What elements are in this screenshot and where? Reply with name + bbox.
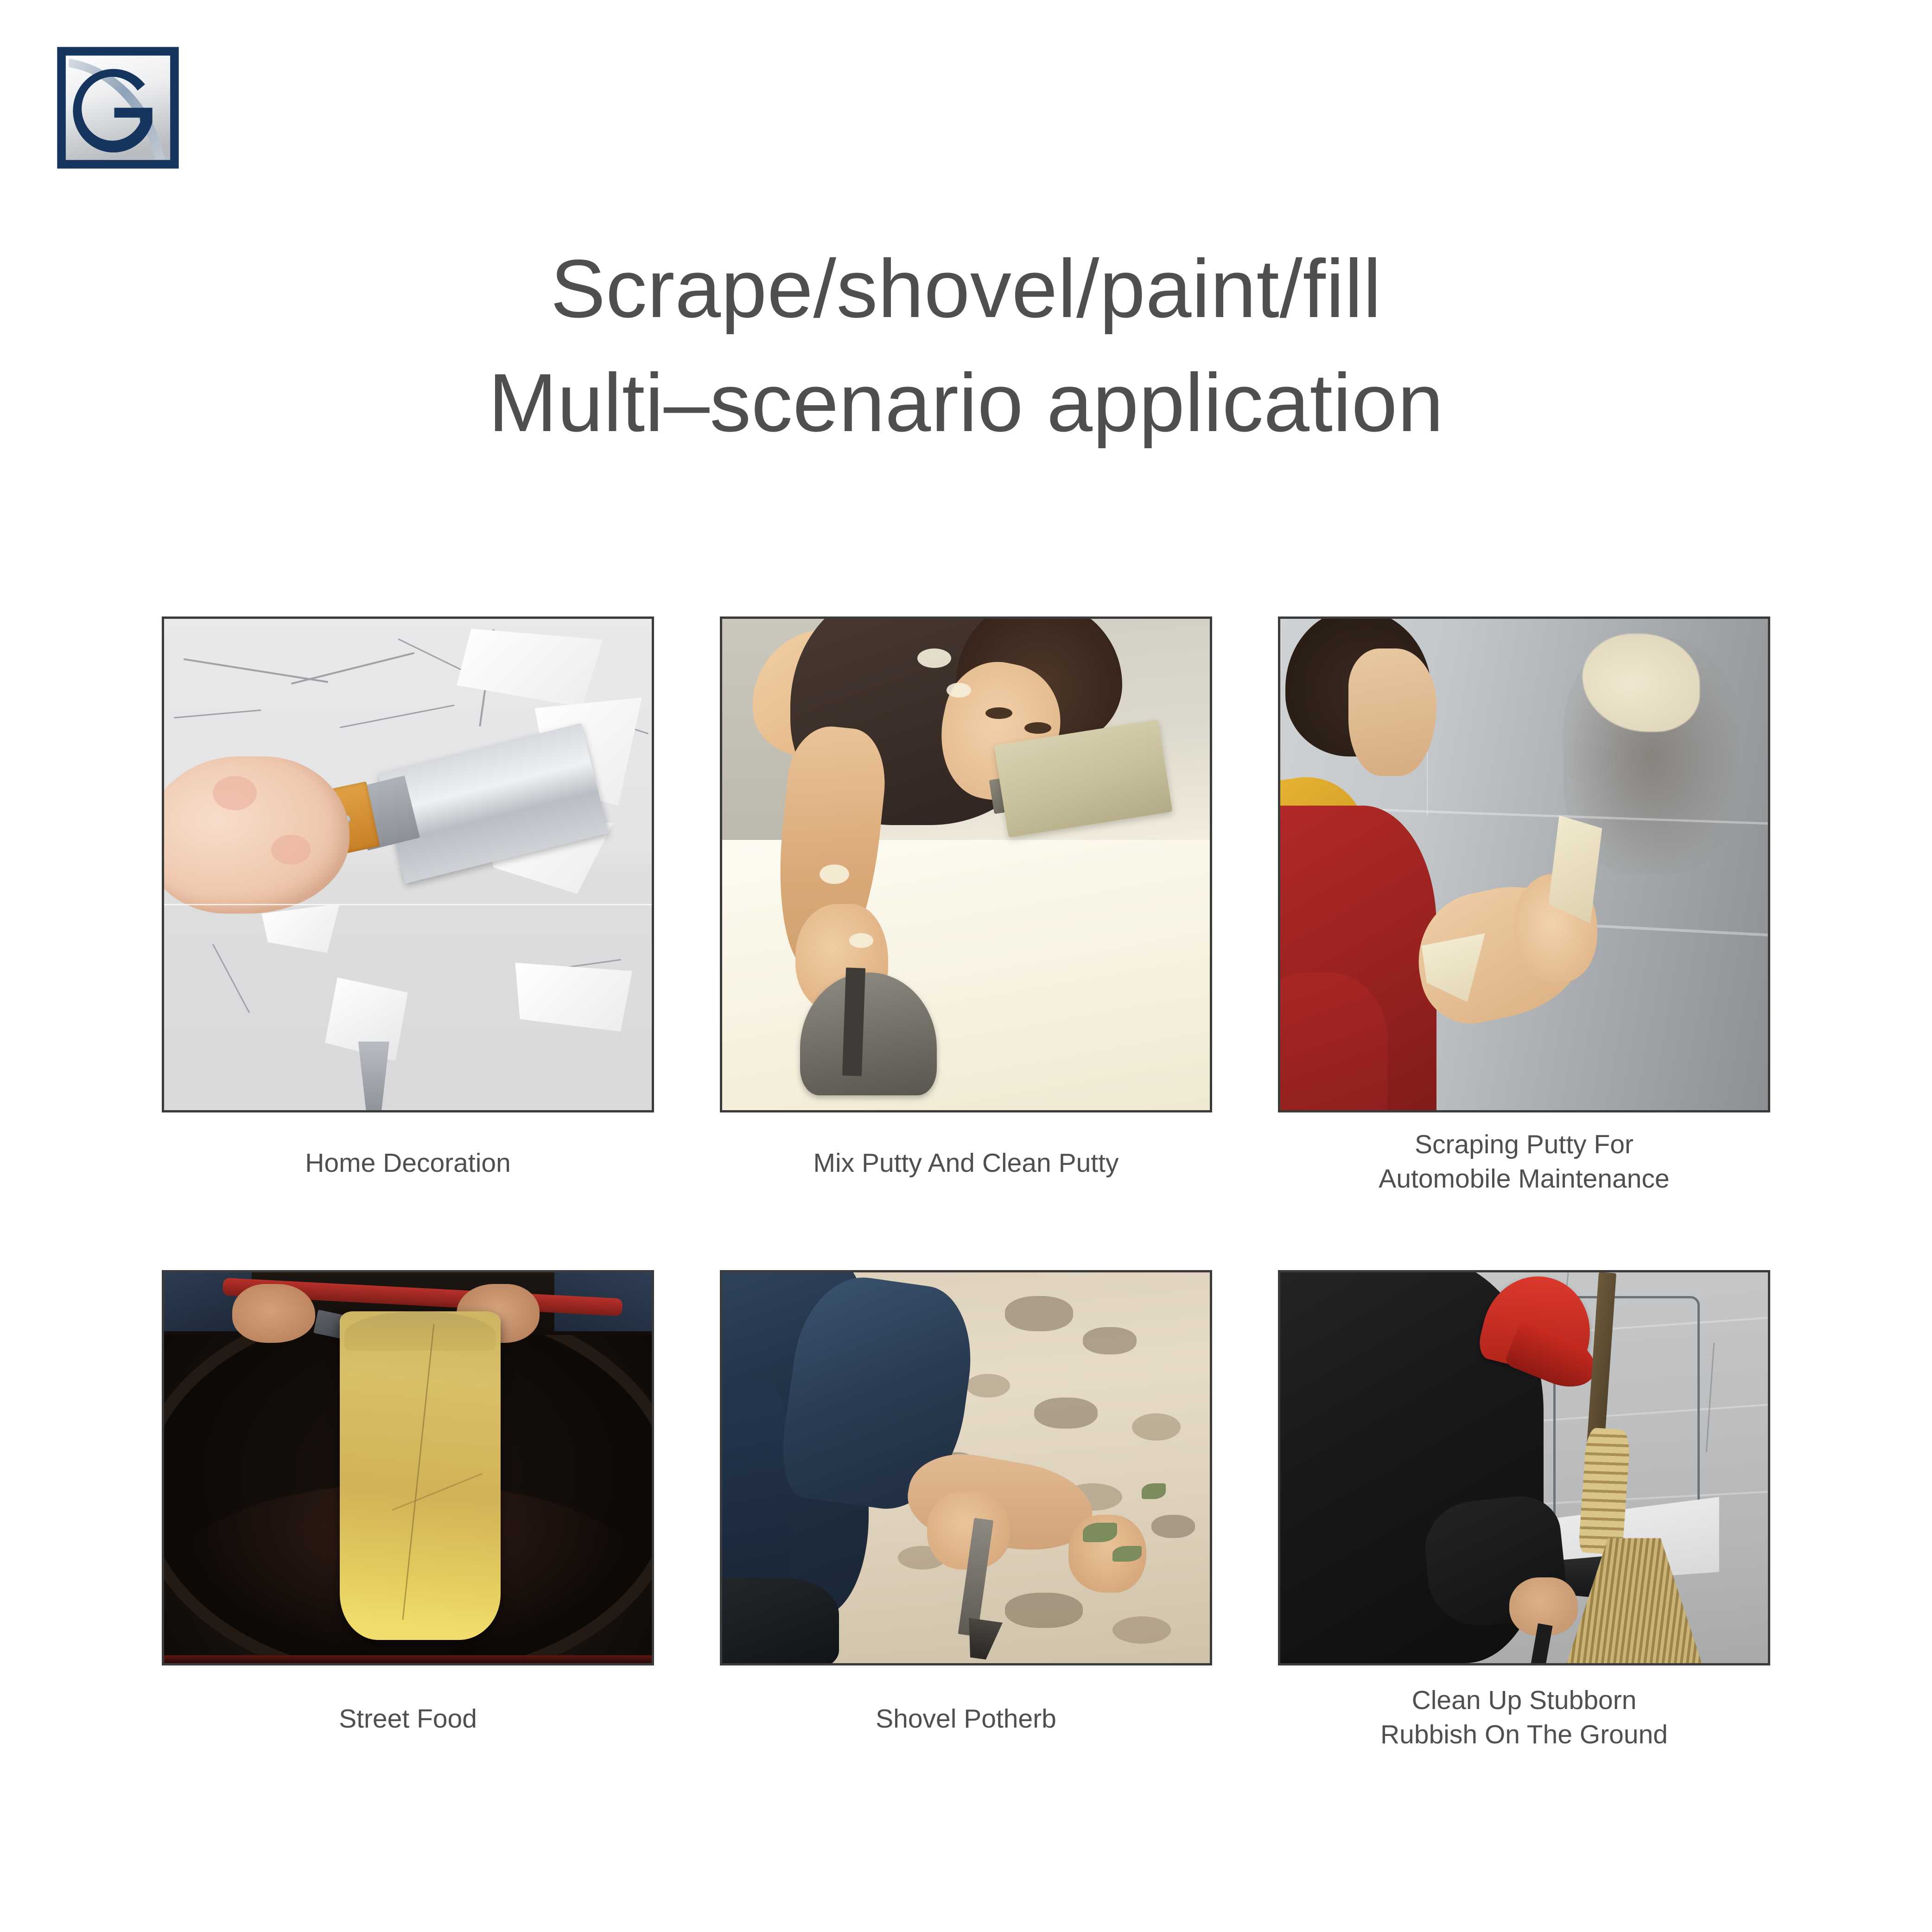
gallery-item-mix-putty[interactable]: Mix Putty And Clean Putty <box>720 616 1212 1196</box>
caption-street-food: Street Food <box>339 1702 477 1736</box>
gallery-item-shovel-potherb[interactable]: Shovel Potherb <box>720 1270 1212 1752</box>
caption-home-decoration: Home Decoration <box>305 1146 511 1180</box>
page-title-line-1: Scrape/shovel/paint/fill <box>0 232 1932 346</box>
gallery-item-street-food[interactable]: Street Food <box>162 1270 654 1752</box>
photo-frame-shovel-potherb[interactable] <box>720 1270 1212 1665</box>
photo-automobile-maintenance <box>1280 619 1768 1110</box>
scenario-gallery: Home Decoration <box>0 616 1932 1752</box>
photo-frame-home-decoration[interactable] <box>162 616 654 1112</box>
brand-logo <box>57 46 179 169</box>
photo-frame-clean-rubbish[interactable] <box>1278 1270 1770 1665</box>
gallery-row-1: Home Decoration <box>0 616 1932 1196</box>
gallery-item-automobile-maintenance[interactable]: Scraping Putty For Automobile Maintenanc… <box>1278 616 1770 1196</box>
photo-shovel-potherb <box>722 1272 1210 1663</box>
caption-shovel-potherb: Shovel Potherb <box>876 1702 1056 1736</box>
photo-frame-automobile-maintenance[interactable] <box>1278 616 1770 1112</box>
gallery-item-clean-rubbish[interactable]: Clean Up Stubborn Rubbish On The Ground <box>1278 1270 1770 1752</box>
page-title-line-2: Multi–scenario application <box>0 346 1932 460</box>
gallery-row-2: Street Food <box>0 1270 1932 1752</box>
photo-frame-mix-putty[interactable] <box>720 616 1212 1112</box>
photo-home-decoration <box>164 619 652 1110</box>
caption-clean-rubbish: Clean Up Stubborn Rubbish On The Ground <box>1380 1683 1668 1752</box>
photo-clean-rubbish <box>1280 1272 1768 1663</box>
caption-automobile-maintenance: Scraping Putty For Automobile Maintenanc… <box>1379 1127 1669 1196</box>
photo-mix-putty <box>722 619 1210 1110</box>
caption-mix-putty: Mix Putty And Clean Putty <box>813 1146 1119 1180</box>
face <box>1348 648 1436 776</box>
boot <box>722 1577 839 1663</box>
hand <box>164 756 350 914</box>
logo-g-icon <box>57 46 179 169</box>
left-hand <box>232 1284 315 1342</box>
page-title: Scrape/shovel/paint/fill Multi–scenario … <box>0 232 1932 459</box>
gallery-item-home-decoration[interactable]: Home Decoration <box>162 616 654 1196</box>
photo-frame-street-food[interactable] <box>162 1270 654 1665</box>
putty-knife-edge <box>354 1042 393 1110</box>
photo-street-food <box>164 1272 652 1663</box>
